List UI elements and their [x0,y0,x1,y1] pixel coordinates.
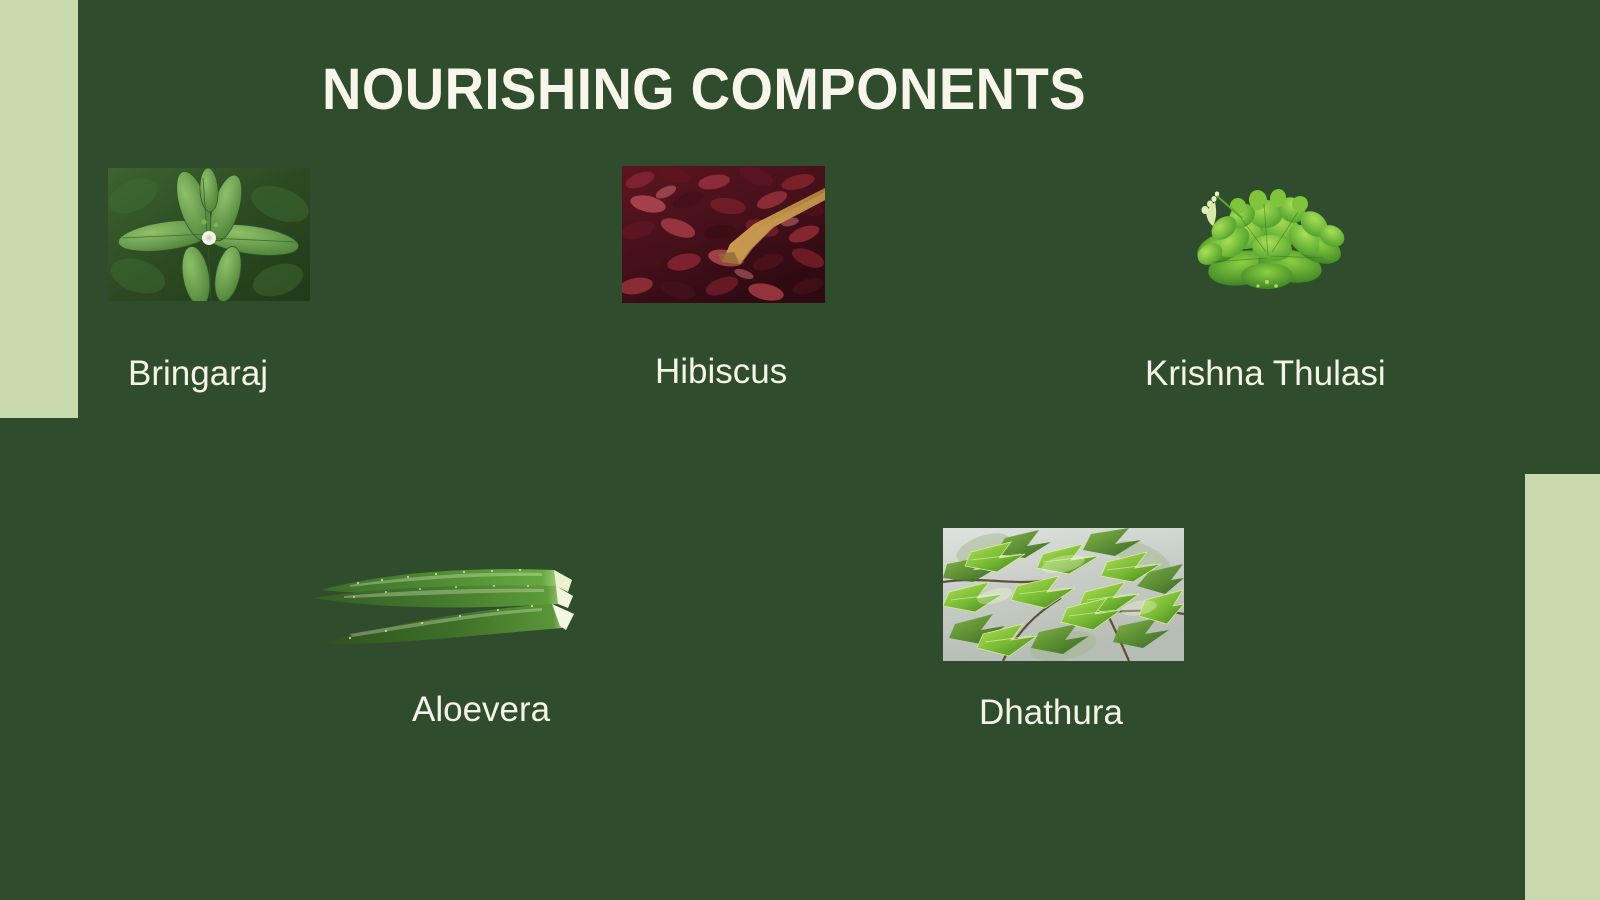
component-label-krishna-thulasi: Krishna Thulasi [1145,354,1386,394]
slide-canvas: NOURISHING COMPONENTS [0,0,1600,900]
aloevera-photo [310,552,585,652]
page-title: NOURISHING COMPONENTS [322,58,1086,122]
component-item-krishna-thulasi[interactable]: Krishna Thulasi [1172,170,1362,298]
component-item-hibiscus[interactable]: Hibiscus [622,166,825,303]
bringaraj-photo [108,168,310,301]
component-label-aloevera: Aloevera [412,690,550,730]
right-sage-bar [1525,474,1600,900]
krishna-thulasi-photo [1172,170,1362,298]
component-item-bringaraj[interactable]: Bringaraj [108,168,310,301]
component-label-bringaraj: Bringaraj [128,354,268,394]
component-label-dhathura: Dhathura [979,693,1123,733]
component-item-aloevera[interactable]: Aloevera [310,552,585,652]
left-sage-bar [0,0,78,418]
dhathura-photo [943,528,1184,661]
component-item-dhathura[interactable]: Dhathura [943,528,1184,661]
component-label-hibiscus: Hibiscus [655,352,787,392]
hibiscus-photo [622,166,825,303]
